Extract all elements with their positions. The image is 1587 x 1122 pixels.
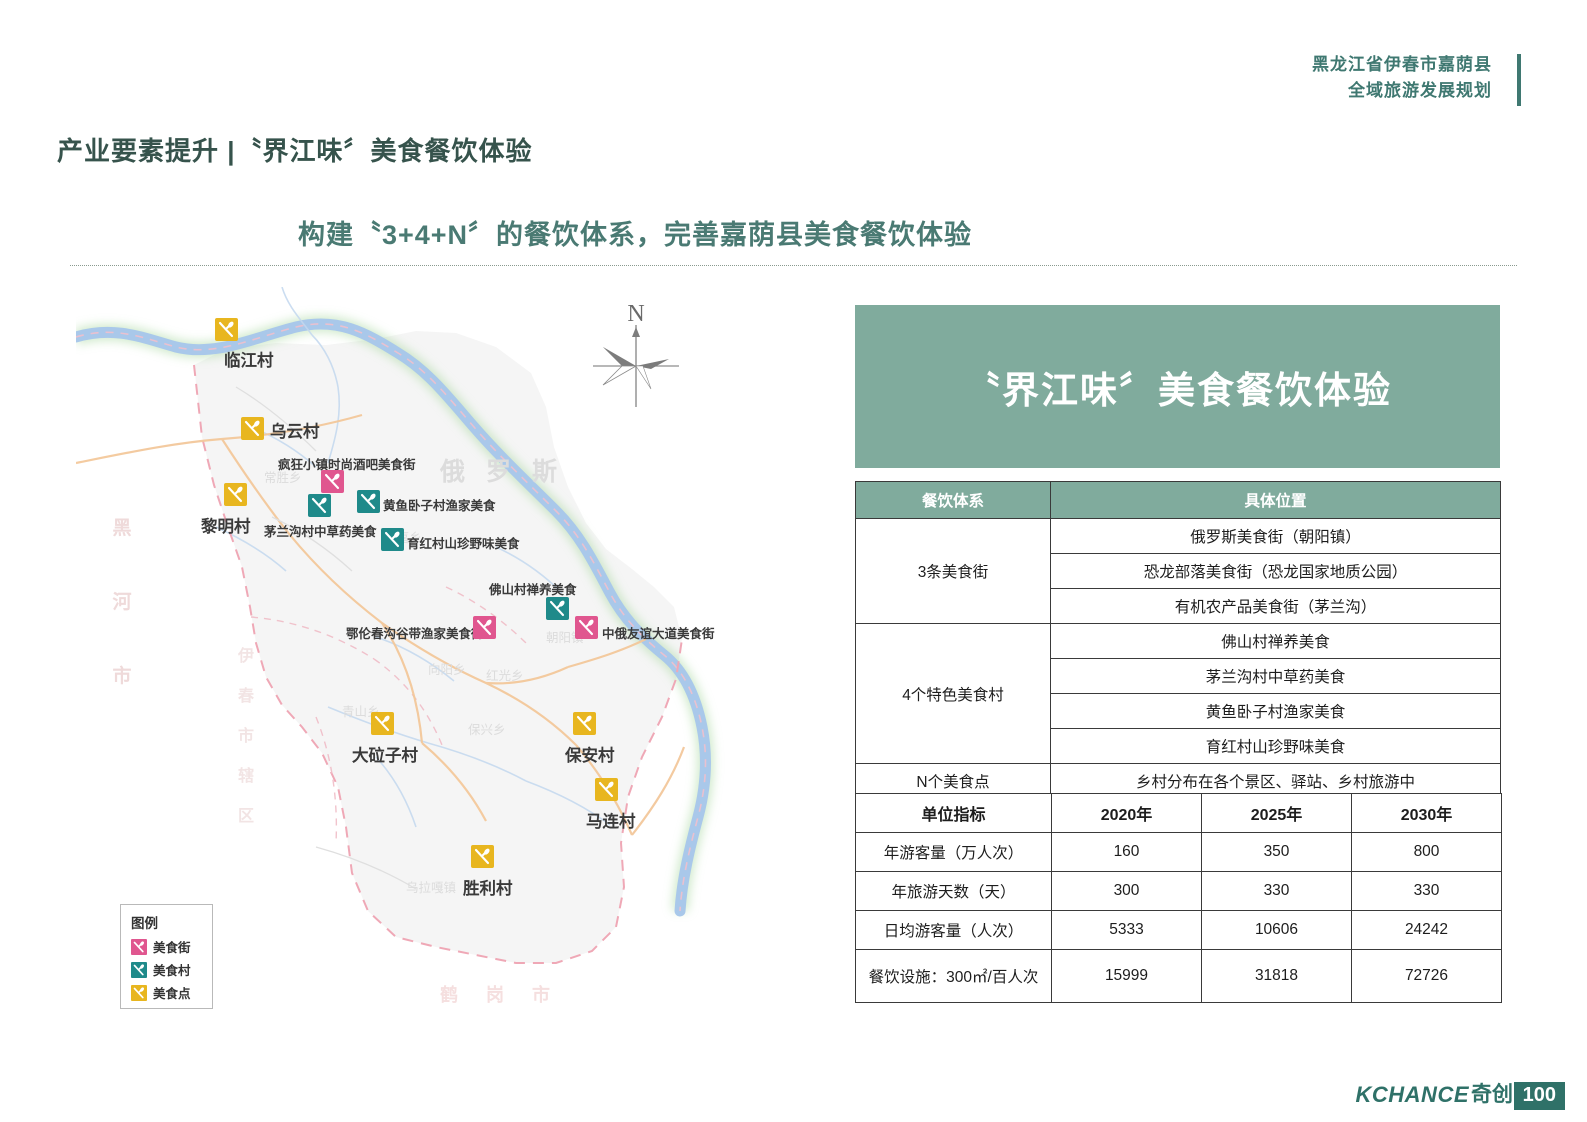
township-label-baoxing: 保兴乡 <box>468 719 506 738</box>
map-panel[interactable]: 俄罗斯 黑河市 伊春市辖区 鹤岗市 常胜乡 沪嘉乡 向阳乡 红光乡 青山乡 保兴… <box>76 287 821 1042</box>
legend-label-food-street: 美食街 <box>153 937 191 956</box>
document-header: 黑龙江省伊春市嘉荫县 全域旅游发展规划 <box>0 52 1587 104</box>
row-label-daily-visitors: 日均游客量（人次） <box>856 911 1052 950</box>
cell-category-food-villages: 4个特色美食村 <box>856 624 1051 764</box>
map-label-dalazicun: 大砬子村 <box>352 742 418 766</box>
compass-rose: N <box>581 303 691 413</box>
col-header-indicator: 单位指标 <box>856 794 1052 833</box>
cell-location: 俄罗斯美食街（朝阳镇） <box>1051 519 1501 554</box>
map-marker-food-village-maolangou[interactable] <box>308 494 331 517</box>
map-label-maliancun: 马连村 <box>586 808 636 832</box>
map-marker-food-spot-dalazicun[interactable] <box>371 712 394 735</box>
page-number: 100 <box>1514 1082 1565 1110</box>
legend-item-food-village[interactable]: 美食村 <box>131 960 212 979</box>
map-label-elunchun-food-street: 鄂伦春沟谷带渔家美食街 <box>346 623 484 642</box>
table-row: 4个特色美食村 佛山村禅养美食 <box>856 624 1501 659</box>
cell-location: 黄鱼卧子村渔家美食 <box>1051 694 1501 729</box>
map-label-foshancun: 佛山村禅养美食 <box>489 579 577 598</box>
col-header-2030: 2030年 <box>1352 794 1502 833</box>
table-header-row: 餐饮体系 具体位置 <box>856 482 1501 519</box>
map-legend: 图例 美食街 美食村 美食点 <box>120 904 213 1009</box>
table-row: 3条美食街 俄罗斯美食街（朝阳镇） <box>856 519 1501 554</box>
map-label-shenglicun: 胜利村 <box>463 875 513 899</box>
table-row: 年游客量（万人次） 160 350 800 <box>856 833 1502 872</box>
legend-label-food-village: 美食村 <box>153 960 191 979</box>
map-label-zhonge-food-street: 中俄友谊大道美食街 <box>602 623 715 642</box>
cell-value: 160 <box>1052 833 1202 872</box>
table-row: 日均游客量（人次） 5333 10606 24242 <box>856 911 1502 950</box>
section-subtitle: 构建〝3+4+N〞的餐饮体系，完善嘉荫县美食餐饮体验 <box>0 213 1270 252</box>
map-label-yuhongcun: 育红村山珍野味美食 <box>407 533 520 552</box>
legend-item-food-spot[interactable]: 美食点 <box>131 983 212 1002</box>
map-marker-food-spot-baoancun[interactable] <box>573 712 596 735</box>
map-label-fengkuang-food-street: 疯狂小镇时尚酒吧美食街 <box>278 454 416 473</box>
dining-system-table: 餐饮体系 具体位置 3条美食街 俄罗斯美食街（朝阳镇） 恐龙部落美食街（恐龙国家… <box>855 481 1501 799</box>
header-accent-bar <box>1517 54 1521 106</box>
cell-value: 72726 <box>1352 950 1502 1003</box>
food-village-icon <box>131 962 147 978</box>
map-marker-food-spot-maliancun[interactable] <box>595 778 618 801</box>
footer-logo: KCHANCE 奇创 <box>1356 1078 1514 1108</box>
map-label-baoancun: 保安村 <box>565 742 615 766</box>
row-label-tourism-days: 年旅游天数（天） <box>856 872 1052 911</box>
food-spot-icon <box>131 985 147 1001</box>
page-title: 产业要素提升 |〝界江味〞美食餐饮体验 <box>57 131 533 168</box>
map-label-linjiangcun: 临江村 <box>224 347 274 371</box>
row-label-dining-facilities: 餐饮设施：300㎡/百人次 <box>856 950 1052 1003</box>
map-marker-food-village-huangyuwozi[interactable] <box>357 490 380 513</box>
map-marker-food-street-fengkuang[interactable] <box>321 470 344 493</box>
col-header-2020: 2020年 <box>1052 794 1202 833</box>
col-header-system: 餐饮体系 <box>856 482 1051 519</box>
cell-value: 300 <box>1052 872 1202 911</box>
title-divider <box>70 265 1517 266</box>
brand-name-cn: 奇创 <box>1471 1078 1513 1108</box>
slide-page: 黑龙江省伊春市嘉荫县 全域旅游发展规划 产业要素提升 |〝界江味〞美食餐饮体验 … <box>0 0 1587 1122</box>
township-label-hongguang: 红光乡 <box>486 665 524 684</box>
food-street-icon <box>131 939 147 955</box>
map-marker-food-spot-linjiangcun[interactable] <box>215 318 238 341</box>
map-marker-food-village-foshancun[interactable] <box>546 597 569 620</box>
cell-location: 恐龙部落美食街（恐龙国家地质公园） <box>1051 554 1501 589</box>
cell-value: 330 <box>1352 872 1502 911</box>
map-marker-food-spot-limingcun[interactable] <box>224 483 247 506</box>
cell-location: 佛山村禅养美食 <box>1051 624 1501 659</box>
header-line-1: 黑龙江省伊春市嘉荫县 <box>0 52 1492 78</box>
legend-label-food-spot: 美食点 <box>153 983 191 1002</box>
map-marker-food-street-elunchun[interactable] <box>473 616 496 639</box>
map-marker-food-spot-shenglicun[interactable] <box>471 845 494 868</box>
map-label-huangyuwozi: 黄鱼卧子村渔家美食 <box>383 495 496 514</box>
row-label-annual-visitors: 年游客量（万人次） <box>856 833 1052 872</box>
cell-location: 育红村山珍野味美食 <box>1051 729 1501 764</box>
col-header-location: 具体位置 <box>1051 482 1501 519</box>
cell-category-food-streets: 3条美食街 <box>856 519 1051 624</box>
map-marker-food-street-zhonge[interactable] <box>575 616 598 639</box>
map-label-maolangou: 茅兰沟村中草药美食 <box>264 521 377 540</box>
cell-value: 800 <box>1352 833 1502 872</box>
township-label-wulaga: 乌拉嘎镇 <box>406 877 456 896</box>
feature-banner: 〝界江味〞美食餐饮体验 <box>855 305 1500 468</box>
cell-location: 有机农产品美食街（茅兰沟） <box>1051 589 1501 624</box>
col-header-2025: 2025年 <box>1202 794 1352 833</box>
feature-banner-title: 〝界江味〞美食餐饮体验 <box>963 360 1392 414</box>
map-label-limingcun: 黎明村 <box>201 513 251 537</box>
brand-name: KCHANCE <box>1356 1082 1470 1108</box>
cell-value: 31818 <box>1202 950 1352 1003</box>
township-label-xiangyang: 向阳乡 <box>428 659 466 678</box>
compass-north-label: N <box>581 301 691 328</box>
map-label-wuyuncun: 乌云村 <box>270 418 320 442</box>
cell-value: 24242 <box>1352 911 1502 950</box>
table-header-row: 单位指标 2020年 2025年 2030年 <box>856 794 1502 833</box>
cell-value: 350 <box>1202 833 1352 872</box>
cell-value: 10606 <box>1202 911 1352 950</box>
header-line-2: 全域旅游发展规划 <box>0 78 1492 104</box>
legend-item-food-street[interactable]: 美食街 <box>131 937 212 956</box>
table-row: 年旅游天数（天） 300 330 330 <box>856 872 1502 911</box>
cell-value: 15999 <box>1052 950 1202 1003</box>
cell-value: 5333 <box>1052 911 1202 950</box>
cell-location: 茅兰沟村中草药美食 <box>1051 659 1501 694</box>
map-marker-food-spot-wuyuncun[interactable] <box>241 417 264 440</box>
cell-value: 330 <box>1202 872 1352 911</box>
indicator-table: 单位指标 2020年 2025年 2030年 年游客量（万人次） 160 350… <box>855 793 1502 1003</box>
map-marker-food-village-yuhongcun[interactable] <box>381 528 404 551</box>
legend-title: 图例 <box>131 912 212 932</box>
table-row: 餐饮设施：300㎡/百人次 15999 31818 72726 <box>856 950 1502 1003</box>
